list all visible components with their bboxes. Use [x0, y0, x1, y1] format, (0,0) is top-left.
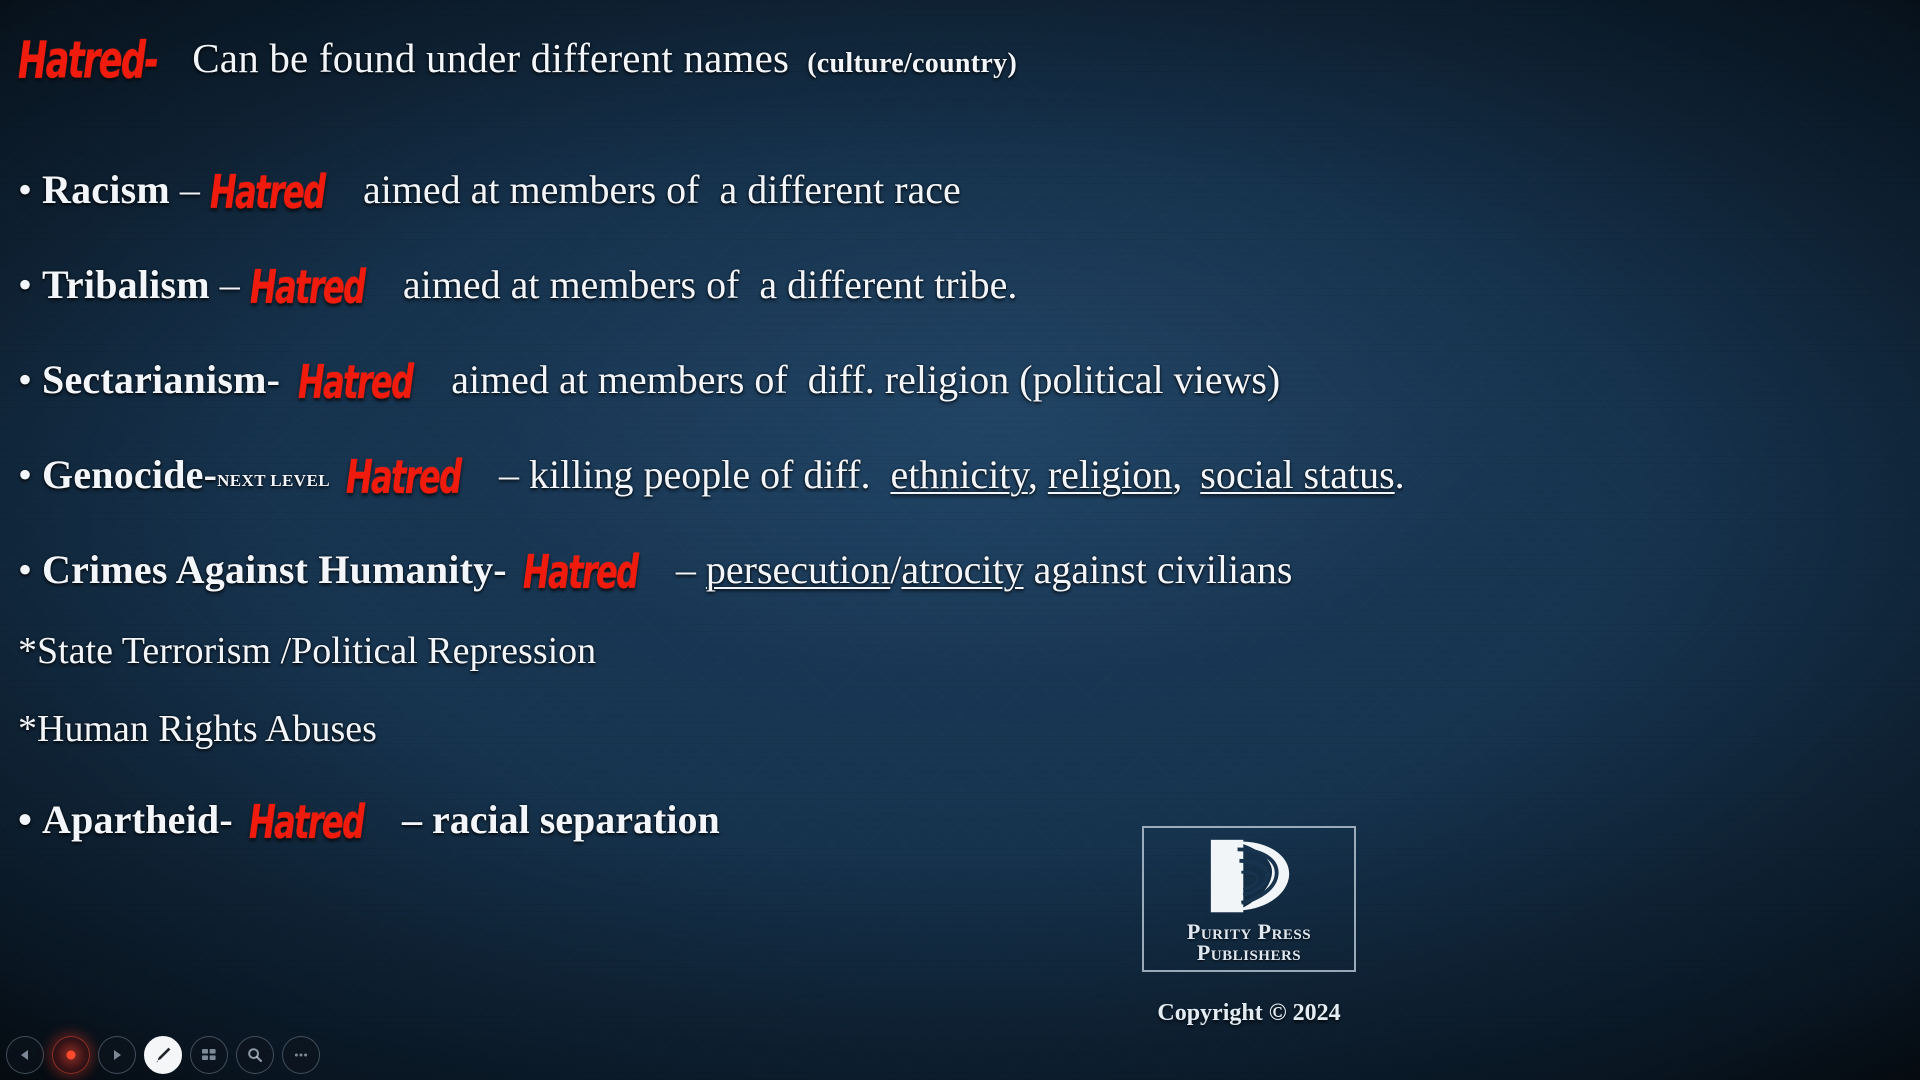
laser-dot-icon [64, 1048, 78, 1062]
bullet-marker: • [18, 452, 32, 497]
presenter-toolbar [6, 1036, 320, 1074]
bullet-text-tribalism-after: a different tribe. [759, 262, 1017, 307]
bullet-term-crimes: Crimes Against Humanity- [42, 547, 507, 592]
bullet-item-racism: • Racism – Hatred aimed at members of a … [18, 170, 961, 213]
bullet-separator: – [220, 262, 240, 307]
more-options-button[interactable] [282, 1036, 320, 1074]
asterisk-marker: * [18, 630, 37, 672]
title-parenthetical: (culture/country) [807, 48, 1017, 79]
bullet-item-genocide: • Genocide-Next Level Hatred – killing p… [18, 455, 1405, 498]
bullet-term-apartheid: Apartheid- [42, 797, 233, 842]
hatred-word-genocide: Hatred [346, 455, 460, 501]
sub-item-text-human-rights: Human Rights Abuses [37, 708, 377, 750]
bullet-marker: • [18, 547, 32, 592]
bullet-text-racism-after: a different race [719, 167, 960, 212]
bullet-term-genocide: Genocide- [42, 452, 217, 497]
triangle-left-icon [17, 1047, 33, 1063]
bullet-item-sectarianism: • Sectarianism- Hatred aimed at members … [18, 360, 1280, 403]
genocide-period: . [1395, 452, 1405, 497]
bullet-text-sectarianism-before: aimed at members of [451, 357, 788, 402]
presentation-slide: Hatred-Can be found under different name… [0, 0, 1920, 1080]
bullet-text-tribalism-before: aimed at members of [403, 262, 740, 307]
asterisk-marker: * [18, 708, 37, 750]
ellipsis-icon [292, 1046, 310, 1064]
genocide-comma-2: , [1172, 452, 1182, 497]
bullet-text-sectarianism-after: diff. religion (political views) [808, 357, 1280, 402]
bullet-item-tribalism: • Tribalism – Hatred aimed at members of… [18, 265, 1017, 308]
crimes-underlined-persecution: persecution [706, 547, 890, 592]
genocide-underlined-ethnicity: ethnicity [890, 452, 1027, 497]
bullet-marker: • [18, 357, 32, 402]
apartheid-text: racial separation [432, 797, 720, 842]
copyright-notice: Copyright © 2024 [1139, 1000, 1359, 1027]
bullet-marker: • [18, 167, 32, 212]
publisher-logo: Purity Press Publishers [1139, 826, 1359, 972]
genocide-comma-1: , [1028, 452, 1038, 497]
pen-tool-button[interactable] [144, 1036, 182, 1074]
bullet-separator: – [499, 452, 519, 497]
all-slides-button[interactable] [190, 1036, 228, 1074]
magnifier-icon [246, 1046, 264, 1064]
hatred-word-tribalism: Hatred [250, 265, 364, 311]
genocide-underlined-religion: religion [1048, 452, 1172, 497]
laser-pointer-button[interactable] [52, 1036, 90, 1074]
zoom-tool-button[interactable] [236, 1036, 274, 1074]
purity-press-p-monogram-icon [1201, 836, 1297, 918]
bullet-text-racism-before: aimed at members of [363, 167, 700, 212]
bullet-separator: – [402, 797, 422, 842]
genocide-underlined-social-status: social status [1200, 452, 1394, 497]
logo-text-line-2: Publishers [1197, 942, 1301, 963]
logo-text-line-1: Purity Press [1187, 921, 1311, 942]
bullet-item-apartheid: • Apartheid- Hatred – racial separation [18, 800, 720, 843]
bullet-text-genocide: killing people of diff. [529, 452, 870, 497]
hatred-word-racism: Hatred [210, 170, 324, 216]
slide-title-line: Hatred-Can be found under different name… [18, 38, 1017, 83]
bullet-marker: • [18, 262, 32, 307]
sub-item-text-state-terrorism: State Terrorism /Political Repression [37, 630, 596, 672]
previous-slide-button[interactable] [6, 1036, 44, 1074]
bullet-separator: – [676, 547, 696, 592]
triangle-right-icon [109, 1047, 125, 1063]
genocide-next-level-label: Next Level [217, 471, 330, 490]
bullet-item-crimes-against-humanity: • Crimes Against Humanity- Hatred – pers… [18, 550, 1292, 593]
sub-item-state-terrorism: *State Terrorism /Political Repression [18, 632, 596, 670]
crimes-underlined-atrocity: atrocity [901, 547, 1023, 592]
bullet-term-racism: Racism [42, 167, 170, 212]
pen-icon [152, 1044, 174, 1066]
hatred-word-apartheid: Hatred [249, 800, 363, 846]
bullet-separator: – [180, 167, 200, 212]
logo-frame: Purity Press Publishers [1142, 826, 1356, 972]
slide-grid-icon [200, 1046, 218, 1064]
title-hatred-word: Hatred- [18, 35, 157, 86]
title-body-text: Can be found under different names [192, 35, 789, 81]
sub-item-human-rights-abuses: *Human Rights Abuses [18, 710, 377, 748]
hatred-word-crimes: Hatred [523, 550, 637, 596]
bullet-marker: • [18, 797, 32, 842]
next-slide-button[interactable] [98, 1036, 136, 1074]
crimes-text-after: against civilians [1034, 547, 1293, 592]
bullet-term-sectarianism: Sectarianism- [42, 357, 280, 402]
hatred-word-sectarianism: Hatred [298, 360, 412, 406]
crimes-slash: / [890, 547, 901, 592]
bullet-term-tribalism: Tribalism [42, 262, 210, 307]
